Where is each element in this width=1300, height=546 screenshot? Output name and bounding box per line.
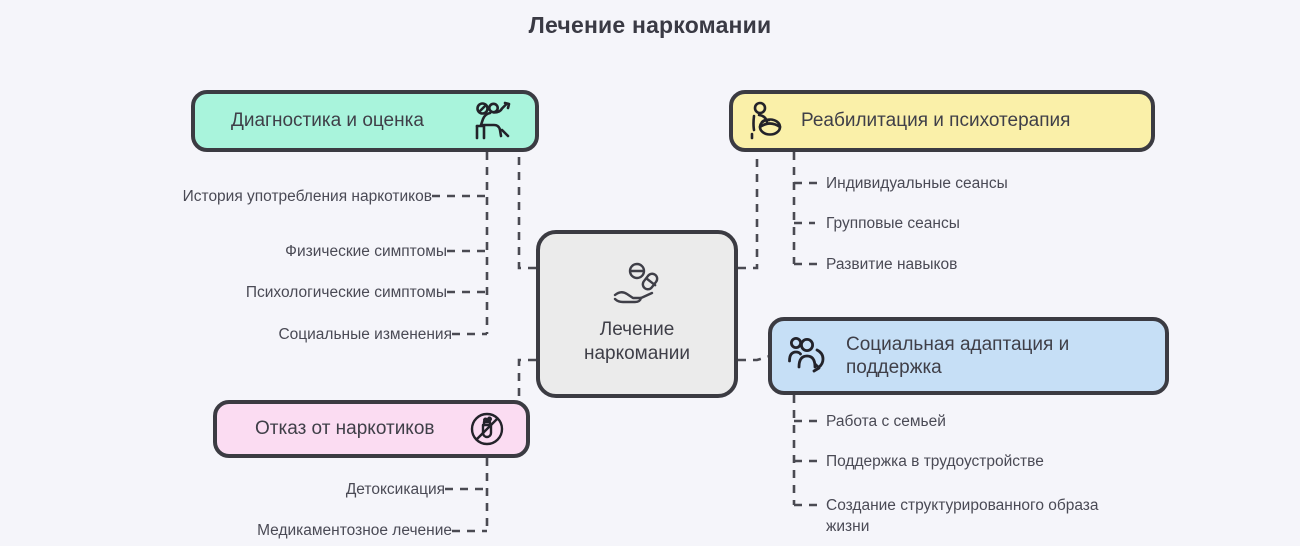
leaf-rehabilitation-1: Групповые сеансы: [826, 214, 1156, 235]
page-title: Лечение наркомании: [0, 12, 1300, 39]
leaf-rehabilitation-2: Развитие навыков: [826, 255, 1156, 276]
leaf-social-2: Создание структурированного образа жизни: [826, 496, 1146, 538]
branch-node-rehabilitation[interactable]: Реабилитация и психотерапия: [729, 90, 1155, 152]
branch-label-rehabilitation: Реабилитация и психотерапия: [801, 109, 1070, 132]
people-group-arrow-icon: [786, 334, 830, 378]
center-node[interactable]: Лечение наркомании: [536, 230, 738, 398]
leaf-rehabilitation-0: Индивидуальные сеансы: [826, 174, 1156, 195]
leaf-social-1: Поддержка в трудоустройстве: [826, 452, 1166, 473]
leaf-diagnostics-1: Физические симптомы: [120, 242, 447, 263]
leaf-diagnostics-3: Социальные изменения: [130, 325, 452, 346]
mindmap-canvas: Лечение наркомании Лечение наркомании Ди…: [0, 0, 1300, 546]
leaf-diagnostics-0: История употребления наркотиков: [90, 187, 432, 208]
branch-node-diagnostics[interactable]: Диагностика и оценка: [191, 90, 539, 152]
leaf-diagnostics-2: Психологические симптомы: [120, 283, 447, 304]
edge-center-diagnostics: [519, 152, 536, 268]
edge-center-social: [738, 356, 770, 360]
center-node-label: Лечение наркомании: [584, 318, 690, 366]
leaf-refusal-1: Медикаментозное лечение: [140, 521, 452, 542]
leaf-social-0: Работа с семьей: [826, 412, 1166, 433]
person-assessment-icon: [473, 100, 515, 142]
branch-node-social-adaptation[interactable]: Социальная адаптация и поддержка: [768, 317, 1169, 395]
branch-label-refusal: Отказ от наркотиков: [255, 417, 435, 440]
hand-holding-pills-icon: [607, 262, 667, 308]
leaf-refusal-0: Детоксикация: [140, 480, 445, 501]
therapy-support-icon: [747, 100, 787, 142]
edge-center-rehabilitation: [738, 152, 757, 268]
branch-label-diagnostics: Диагностика и оценка: [231, 109, 424, 132]
branch-label-social-adaptation: Социальная адаптация и поддержка: [846, 333, 1069, 379]
no-drugs-prohibited-icon: [468, 410, 506, 448]
branch-node-refusal[interactable]: Отказ от наркотиков: [213, 400, 530, 458]
